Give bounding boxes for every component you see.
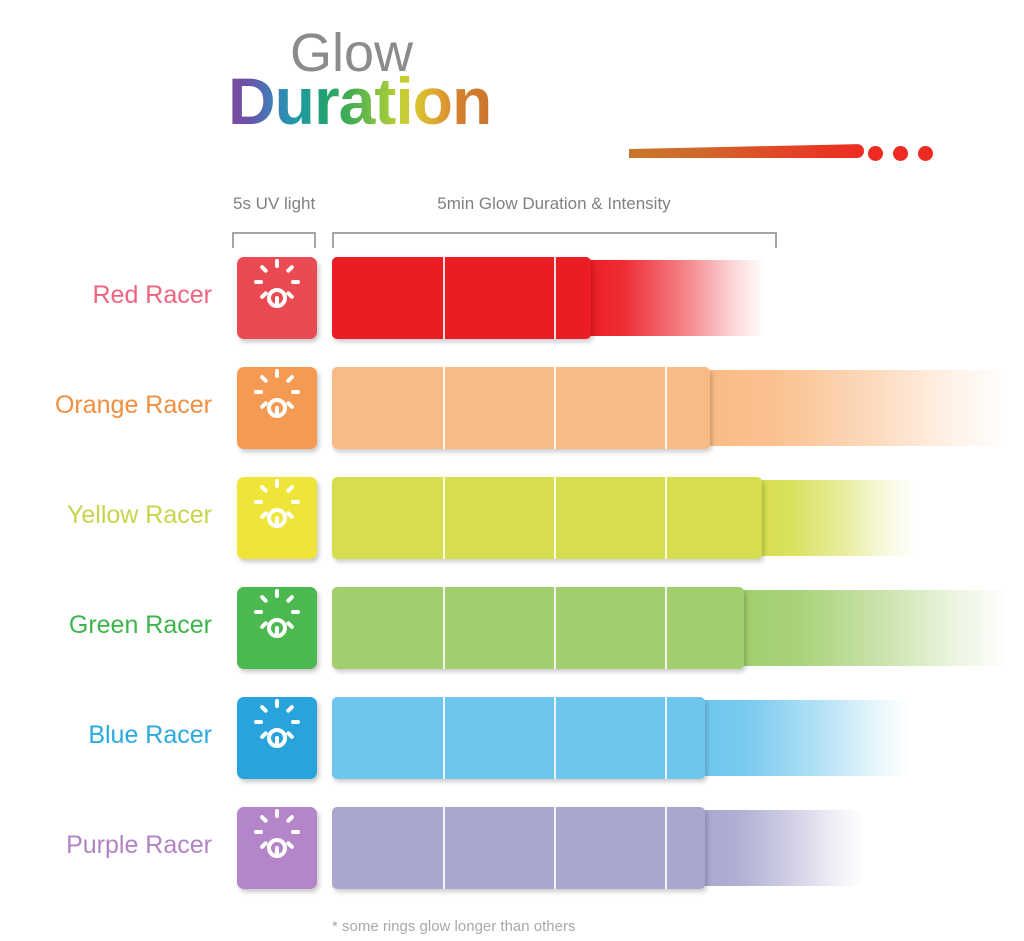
glow-bar-fade [704, 370, 1010, 446]
glow-bar[interactable] [332, 257, 765, 339]
glow-bar-divider [443, 257, 445, 339]
footnote: * some rings glow longer than others [332, 918, 932, 935]
glow-bar-solid [332, 587, 744, 669]
glow-bar-divider [554, 367, 556, 449]
sun-icon [254, 825, 300, 871]
sun-icon-ray [291, 500, 300, 504]
sun-icon-ray [275, 589, 279, 598]
sun-icon-ray [275, 516, 279, 525]
sun-icon-ray [291, 280, 300, 284]
glow-bar-divider [554, 587, 556, 669]
glow-bar[interactable] [332, 807, 865, 889]
racer-row: Red Racer [0, 245, 1024, 355]
racer-row: Orange Racer [0, 355, 1024, 465]
sun-icon [254, 605, 300, 651]
row-label-purple: Purple Racer [0, 833, 212, 858]
column-header-uv: 5s UV light [233, 194, 315, 214]
sun-icon-ray [285, 374, 294, 383]
glow-bar-divider [443, 477, 445, 559]
sun-icon-ray [291, 830, 300, 834]
title-dot [868, 146, 883, 161]
infographic-canvas: Glow Duration 5s UV light 5min Glow Dura… [0, 0, 1024, 941]
sun-icon-ray [254, 280, 263, 284]
glow-bar-fade [585, 260, 765, 336]
title-block: Glow Duration [228, 26, 788, 156]
glow-bar-divider [665, 477, 667, 559]
row-label-green: Green Racer [0, 613, 212, 638]
uv-light-tile[interactable] [237, 697, 317, 779]
sun-icon-ray [254, 830, 263, 834]
sun-icon-ray [254, 500, 263, 504]
sun-icon-ray [275, 369, 279, 378]
glow-bar-divider [443, 697, 445, 779]
sun-icon [254, 495, 300, 541]
glow-bar-solid [332, 477, 762, 559]
title-tail-stroke [629, 144, 864, 158]
uv-light-tile[interactable] [237, 367, 317, 449]
glow-bar-solid [332, 257, 591, 339]
racer-row: Purple Racer [0, 795, 1024, 905]
sun-icon-ray [259, 594, 268, 603]
racer-row: Green Racer [0, 575, 1024, 685]
glow-bar-fade [756, 480, 915, 556]
glow-bar-fade [699, 810, 865, 886]
sun-icon-ray [259, 814, 268, 823]
sun-icon [254, 715, 300, 761]
racer-row: Yellow Racer [0, 465, 1024, 575]
glow-bar-divider [443, 587, 445, 669]
sun-icon-ray [254, 610, 263, 614]
sun-icon-ray [291, 610, 300, 614]
sun-icon-ray [275, 296, 279, 305]
sun-icon-ray [275, 736, 279, 745]
title-duration-word: Duration [228, 68, 491, 134]
glow-bar-divider [554, 257, 556, 339]
glow-bar-solid [332, 367, 710, 449]
sun-icon [254, 275, 300, 321]
glow-bar-divider [665, 807, 667, 889]
sun-icon-ray [275, 259, 279, 268]
glow-bar-divider [443, 807, 445, 889]
sun-icon-ray [275, 479, 279, 488]
column-header-glow: 5min Glow Duration & Intensity [332, 194, 776, 214]
sun-icon-ray [285, 704, 294, 713]
racer-row: Blue Racer [0, 685, 1024, 795]
sun-icon-ray [285, 594, 294, 603]
row-label-yellow: Yellow Racer [0, 503, 212, 528]
glow-bar-divider [554, 477, 556, 559]
glow-bar-divider [554, 807, 556, 889]
sun-icon-ray [291, 720, 300, 724]
sun-icon-ray [275, 699, 279, 708]
sun-icon-ray [259, 264, 268, 273]
glow-bar-divider [443, 367, 445, 449]
glow-bar[interactable] [332, 367, 1010, 449]
uv-light-tile[interactable] [237, 477, 317, 559]
sun-icon-ray [275, 846, 279, 855]
title-dot [918, 146, 933, 161]
sun-icon-ray [291, 390, 300, 394]
sun-icon-ray [285, 484, 294, 493]
sun-icon-ray [285, 814, 294, 823]
sun-icon-ray [254, 390, 263, 394]
sun-icon-ray [259, 374, 268, 383]
glow-bar-divider [665, 367, 667, 449]
row-label-orange: Orange Racer [0, 393, 212, 418]
sun-icon-ray [275, 406, 279, 415]
uv-light-tile[interactable] [237, 807, 317, 889]
glow-bar[interactable] [332, 697, 910, 779]
glow-bar[interactable] [332, 587, 1010, 669]
uv-light-tile[interactable] [237, 587, 317, 669]
sun-icon-ray [259, 704, 268, 713]
sun-icon [254, 385, 300, 431]
glow-bar-solid [332, 697, 705, 779]
glow-bar-fade [699, 700, 910, 776]
sun-icon-ray [259, 484, 268, 493]
sun-icon-ray [275, 809, 279, 818]
glow-bar[interactable] [332, 477, 915, 559]
sun-icon-ray [275, 626, 279, 635]
sun-icon-ray [285, 264, 294, 273]
sun-icon-ray [254, 720, 263, 724]
glow-bar-divider [665, 587, 667, 669]
glow-bar-solid [332, 807, 705, 889]
glow-bar-divider [665, 697, 667, 779]
uv-light-tile[interactable] [237, 257, 317, 339]
glow-bar-fade [738, 590, 1010, 666]
row-label-blue: Blue Racer [0, 723, 212, 748]
glow-bar-divider [554, 697, 556, 779]
title-trailing-dots [868, 146, 978, 162]
row-label-red: Red Racer [0, 283, 212, 308]
title-dot [893, 146, 908, 161]
